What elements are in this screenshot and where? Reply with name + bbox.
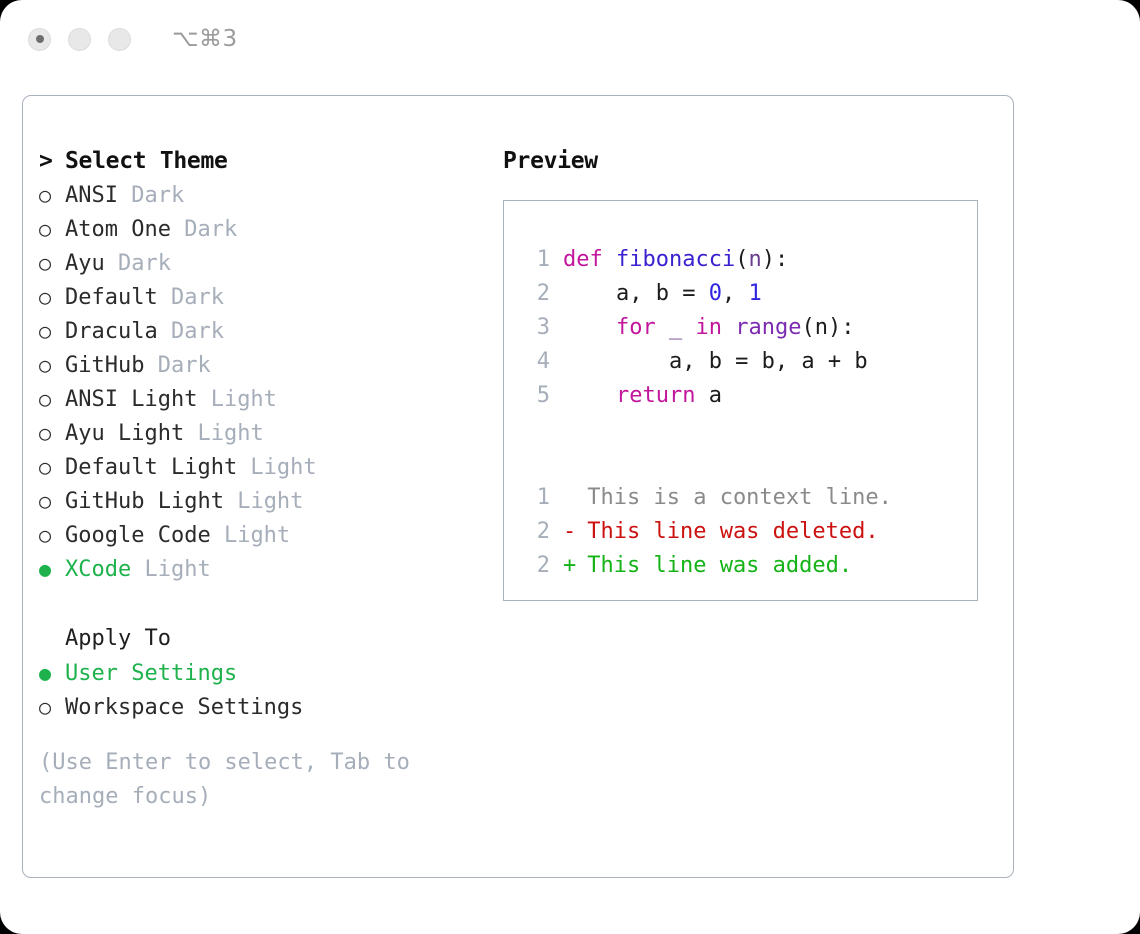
- theme-kind-label: Light: [197, 387, 276, 412]
- code-line: 1def fibonacci(n):: [522, 243, 977, 277]
- window-dot-active-icon[interactable]: [28, 28, 51, 51]
- radio-unselected-icon[interactable]: ○: [39, 518, 65, 552]
- code-token-kw: for: [616, 315, 656, 340]
- code-token-plain: (n):: [801, 315, 854, 340]
- theme-kind-label: Dark: [158, 319, 224, 344]
- theme-kind-label: Dark: [144, 353, 210, 378]
- theme-list: ○ANSI Dark○Atom One Dark○Ayu Dark○Defaul…: [39, 178, 493, 586]
- radio-unselected-icon[interactable]: ○: [39, 246, 65, 280]
- code-token-kw: def: [563, 247, 616, 272]
- diff-marker: [563, 481, 574, 515]
- app-window: ⌥⌘3 >Select Theme ○ANSI Dark○Atom One Da…: [0, 0, 1140, 934]
- theme-kind-label: Dark: [171, 217, 237, 242]
- radio-selected-icon[interactable]: ●: [39, 656, 65, 690]
- diff-line-number: 2: [522, 549, 550, 583]
- select-theme-header: >Select Theme: [39, 144, 493, 178]
- theme-list-item[interactable]: ○GitHub Dark: [39, 348, 493, 382]
- theme-list-item[interactable]: ○Default Light Light: [39, 450, 493, 484]
- code-token-plain: [722, 315, 735, 340]
- theme-name-label: Ayu Light: [65, 421, 184, 446]
- diff-marker: +: [563, 549, 574, 583]
- window-dot-2-icon[interactable]: [68, 28, 91, 51]
- prompt-caret-icon: >: [39, 144, 65, 178]
- keyboard-shortcut-label: ⌥⌘3: [172, 26, 238, 52]
- theme-list-item[interactable]: ○Ayu Dark: [39, 246, 493, 280]
- theme-list-item[interactable]: ○ANSI Light Light: [39, 382, 493, 416]
- preview-box: 1def fibonacci(n):2 a, b = 0, 13 for _ i…: [503, 200, 978, 601]
- code-line: 4 a, b = b, a + b: [522, 345, 977, 379]
- code-token-builtin: range: [735, 315, 801, 340]
- theme-name-label: GitHub: [65, 353, 144, 378]
- theme-kind-label: Light: [224, 489, 303, 514]
- theme-name-label: Default: [65, 285, 158, 310]
- code-line: 5 return a: [522, 379, 977, 413]
- code-sample: 1def fibonacci(n):2 a, b = 0, 13 for _ i…: [522, 243, 977, 413]
- window-dot-3-icon[interactable]: [108, 28, 131, 51]
- apply-to-option[interactable]: ●User Settings: [39, 656, 493, 690]
- theme-name-label: ANSI Light: [65, 387, 197, 412]
- diff-text: This line was added.: [574, 553, 852, 578]
- diff-line-number: 2: [522, 515, 550, 549]
- theme-name-label: Default Light: [65, 455, 237, 480]
- code-token-plain: a, b = b, a + b: [563, 349, 868, 374]
- theme-list-item[interactable]: ○GitHub Light Light: [39, 484, 493, 518]
- theme-kind-label: Light: [184, 421, 263, 446]
- code-line-number: 4: [522, 345, 550, 379]
- theme-kind-label: Dark: [158, 285, 224, 310]
- theme-name-label: Dracula: [65, 319, 158, 344]
- code-token-kw: return: [616, 383, 695, 408]
- code-token-kw: in: [695, 315, 722, 340]
- code-line-number: 1: [522, 243, 550, 277]
- code-token-var: _: [656, 315, 696, 340]
- theme-name-label: Atom One: [65, 217, 171, 242]
- preview-column: Preview 1def fibonacci(n):2 a, b = 0, 13…: [493, 96, 1013, 877]
- theme-kind-label: Light: [237, 455, 316, 480]
- code-token-num: 0: [709, 281, 722, 306]
- diff-text: This line was deleted.: [574, 519, 879, 544]
- code-token-plain: ,: [722, 281, 749, 306]
- select-theme-label: Select Theme: [65, 148, 228, 174]
- theme-name-label: XCode: [65, 557, 131, 582]
- preview-header: Preview: [503, 144, 1013, 178]
- theme-kind-label: Light: [131, 557, 210, 582]
- theme-list-item[interactable]: ○Atom One Dark: [39, 212, 493, 246]
- theme-name-label: GitHub Light: [65, 489, 224, 514]
- code-token-plain: (: [735, 247, 748, 272]
- theme-list-item[interactable]: ●XCode Light: [39, 552, 493, 586]
- code-line-number: 2: [522, 277, 550, 311]
- theme-name-label: ANSI: [65, 183, 118, 208]
- code-token-plain: [563, 315, 616, 340]
- radio-selected-icon[interactable]: ●: [39, 552, 65, 586]
- theme-kind-label: Dark: [118, 183, 184, 208]
- code-token-plain: a: [695, 383, 722, 408]
- diff-text: This is a context line.: [574, 485, 892, 510]
- theme-list-column: >Select Theme ○ANSI Dark○Atom One Dark○A…: [23, 96, 493, 877]
- code-diff-gap: [522, 413, 977, 447]
- code-token-plain: ):: [762, 247, 789, 272]
- diff-line: 2+ This line was added.: [522, 549, 977, 583]
- radio-unselected-icon[interactable]: ○: [39, 416, 65, 450]
- title-bar: ⌥⌘3: [0, 0, 1140, 78]
- code-token-fn: fibonacci: [616, 247, 735, 272]
- code-line: 2 a, b = 0, 1: [522, 277, 977, 311]
- code-token-plain: a, b =: [563, 281, 709, 306]
- radio-unselected-icon[interactable]: ○: [39, 314, 65, 348]
- theme-name-label: Ayu: [65, 251, 105, 276]
- diff-sample: 1 This is a context line.2- This line wa…: [522, 481, 977, 583]
- theme-picker-panel: >Select Theme ○ANSI Dark○Atom One Dark○A…: [22, 95, 1014, 878]
- radio-unselected-icon[interactable]: ○: [39, 382, 65, 416]
- diff-line: 1 This is a context line.: [522, 481, 977, 515]
- theme-name-label: Google Code: [65, 523, 211, 548]
- radio-unselected-icon[interactable]: ○: [39, 484, 65, 518]
- radio-unselected-icon[interactable]: ○: [39, 212, 65, 246]
- diff-line-number: 1: [522, 481, 550, 515]
- theme-list-item[interactable]: ○Default Dark: [39, 280, 493, 314]
- theme-list-item[interactable]: ○Ayu Light Light: [39, 416, 493, 450]
- code-token-var: n: [748, 247, 761, 272]
- radio-unselected-icon[interactable]: ○: [39, 280, 65, 314]
- code-line-number: 5: [522, 379, 550, 413]
- code-token-plain: [563, 383, 616, 408]
- radio-unselected-icon[interactable]: ○: [39, 178, 65, 212]
- theme-list-item[interactable]: ○Google Code Light: [39, 518, 493, 552]
- diff-line: 2- This line was deleted.: [522, 515, 977, 549]
- code-token-num: 1: [748, 281, 761, 306]
- radio-unselected-icon[interactable]: ○: [39, 690, 65, 724]
- radio-unselected-icon[interactable]: ○: [39, 348, 65, 382]
- code-line: 3 for _ in range(n):: [522, 311, 977, 345]
- window-dot-active-center-icon: [36, 35, 44, 43]
- apply-to-label: User Settings: [65, 661, 237, 686]
- diff-marker: -: [563, 515, 574, 549]
- apply-to-option[interactable]: ○Workspace Settings: [39, 690, 493, 724]
- keyboard-hint-text: (Use Enter to select, Tab to change focu…: [39, 746, 449, 814]
- apply-to-list: ●User Settings○Workspace Settings: [39, 656, 493, 724]
- theme-kind-label: Dark: [105, 251, 171, 276]
- theme-kind-label: Light: [211, 523, 290, 548]
- code-line-number: 3: [522, 311, 550, 345]
- radio-unselected-icon[interactable]: ○: [39, 450, 65, 484]
- section-gap: [39, 586, 493, 622]
- apply-to-header: Apply To: [39, 622, 493, 656]
- apply-to-label: Workspace Settings: [65, 695, 303, 720]
- theme-list-item[interactable]: ○ANSI Dark: [39, 178, 493, 212]
- code-diff-gap-2: [522, 447, 977, 481]
- theme-list-item[interactable]: ○Dracula Dark: [39, 314, 493, 348]
